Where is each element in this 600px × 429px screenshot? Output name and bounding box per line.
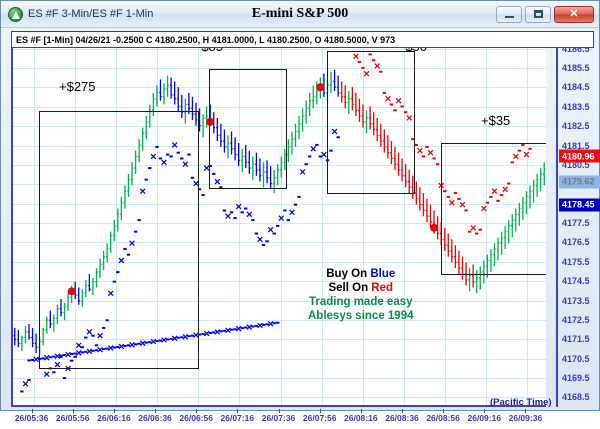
trade-label-4: +$35	[481, 113, 510, 128]
price-tick-label: 4170.5	[562, 354, 590, 364]
window-title-left: ES #F 3-Min/ES #F 1-Min	[28, 8, 153, 20]
time-tick-label: 26/07:56	[303, 413, 337, 423]
minimize-icon	[505, 15, 514, 18]
trade-box-3	[327, 51, 415, 194]
chart-container: +$275 -$85 -$50 +$35 Buy On Blue Sell On…	[11, 27, 600, 412]
time-tick-label: 26/08:16	[344, 413, 378, 423]
current-price[interactable]: 4179.62	[559, 175, 600, 188]
maximize-icon	[534, 10, 543, 18]
promo-annotation: Buy On Blue Sell On Red Trading made eas…	[308, 267, 414, 323]
sell-stop-price[interactable]: 4180.96	[559, 150, 600, 163]
trade-label-1: +$275	[59, 79, 96, 94]
time-tick-label: 26/07:36	[262, 413, 296, 423]
price-tick-label: 4172.5	[562, 315, 590, 325]
price-tick-label: 4183.5	[562, 102, 590, 112]
title-bar: ES #F 3-Min/ES #F 1-Min E-mini S&P 500 ✕	[1, 1, 599, 28]
annotation-line-1-keyword: Blue	[370, 268, 395, 280]
trade-box-4	[441, 143, 546, 275]
price-tick-label: 4174.5	[562, 276, 590, 286]
buy-stop-price[interactable]: 4178.45	[559, 198, 600, 211]
time-tick-label: 26/08:56	[426, 413, 460, 423]
maximize-button[interactable]	[525, 6, 551, 23]
annotation-line-1-prefix: Buy On	[326, 268, 370, 280]
annotation-line-2-prefix: Sell On	[328, 282, 371, 294]
price-tick-label: 4185.5	[562, 63, 590, 73]
price-tick-label: 4175.5	[562, 257, 590, 267]
time-tick-label: 26/09:36	[509, 413, 543, 423]
timezone-note: (Pacific Time)	[490, 397, 552, 408]
chart-window: ES #F 3-Min/ES #F 1-Min E-mini S&P 500 ✕…	[0, 0, 600, 411]
price-tick-label: 4184.5	[562, 82, 590, 92]
price-tick-label: 4177.5	[562, 218, 590, 228]
close-icon: ✕	[569, 9, 578, 20]
trade-box-1	[39, 111, 199, 369]
time-tick-label: 26/07:16	[221, 413, 255, 423]
price-axis[interactable]: 4186.54185.54184.54183.54182.54181.54180…	[556, 39, 600, 407]
close-button[interactable]: ✕	[554, 6, 594, 23]
time-axis[interactable]: 26/05:3626/05:5626/06:1626/06:3626/06:56…	[11, 409, 556, 429]
time-tick-label: 26/08:36	[385, 413, 419, 423]
annotation-line-2-keyword: Red	[371, 282, 393, 294]
time-tick-label: 26/09:16	[468, 413, 502, 423]
quote-header: ES #F [1-Min] 04/26/21 -0.2500 C 4180.25…	[11, 31, 594, 48]
time-tick-label: 26/05:56	[56, 413, 90, 423]
time-tick-label: 26/05:36	[15, 413, 49, 423]
annotation-line-1: Buy On Blue	[308, 267, 414, 281]
price-tick-label: 4171.5	[562, 334, 590, 344]
price-tick-label: 4173.5	[562, 296, 590, 306]
time-tick-label: 26/06:56	[179, 413, 213, 423]
time-tick-label: 26/06:16	[97, 413, 131, 423]
price-tick-label: 4182.5	[562, 121, 590, 131]
price-plot[interactable]	[11, 39, 546, 407]
time-tick-label: 26/06:36	[138, 413, 172, 423]
price-tick-label: 4169.5	[562, 373, 590, 383]
ablesys-logo-icon	[8, 7, 23, 22]
annotation-line-4: Ablesys since 1994	[308, 309, 414, 323]
annotation-line-3: Trading made easy	[308, 295, 414, 309]
trade-box-2	[209, 69, 287, 189]
window-controls: ✕	[496, 6, 594, 23]
annotation-line-2: Sell On Red	[308, 281, 414, 295]
price-tick-label: 4176.5	[562, 237, 590, 247]
price-tick-label: 4168.5	[562, 392, 590, 402]
minimize-button[interactable]	[496, 6, 522, 23]
